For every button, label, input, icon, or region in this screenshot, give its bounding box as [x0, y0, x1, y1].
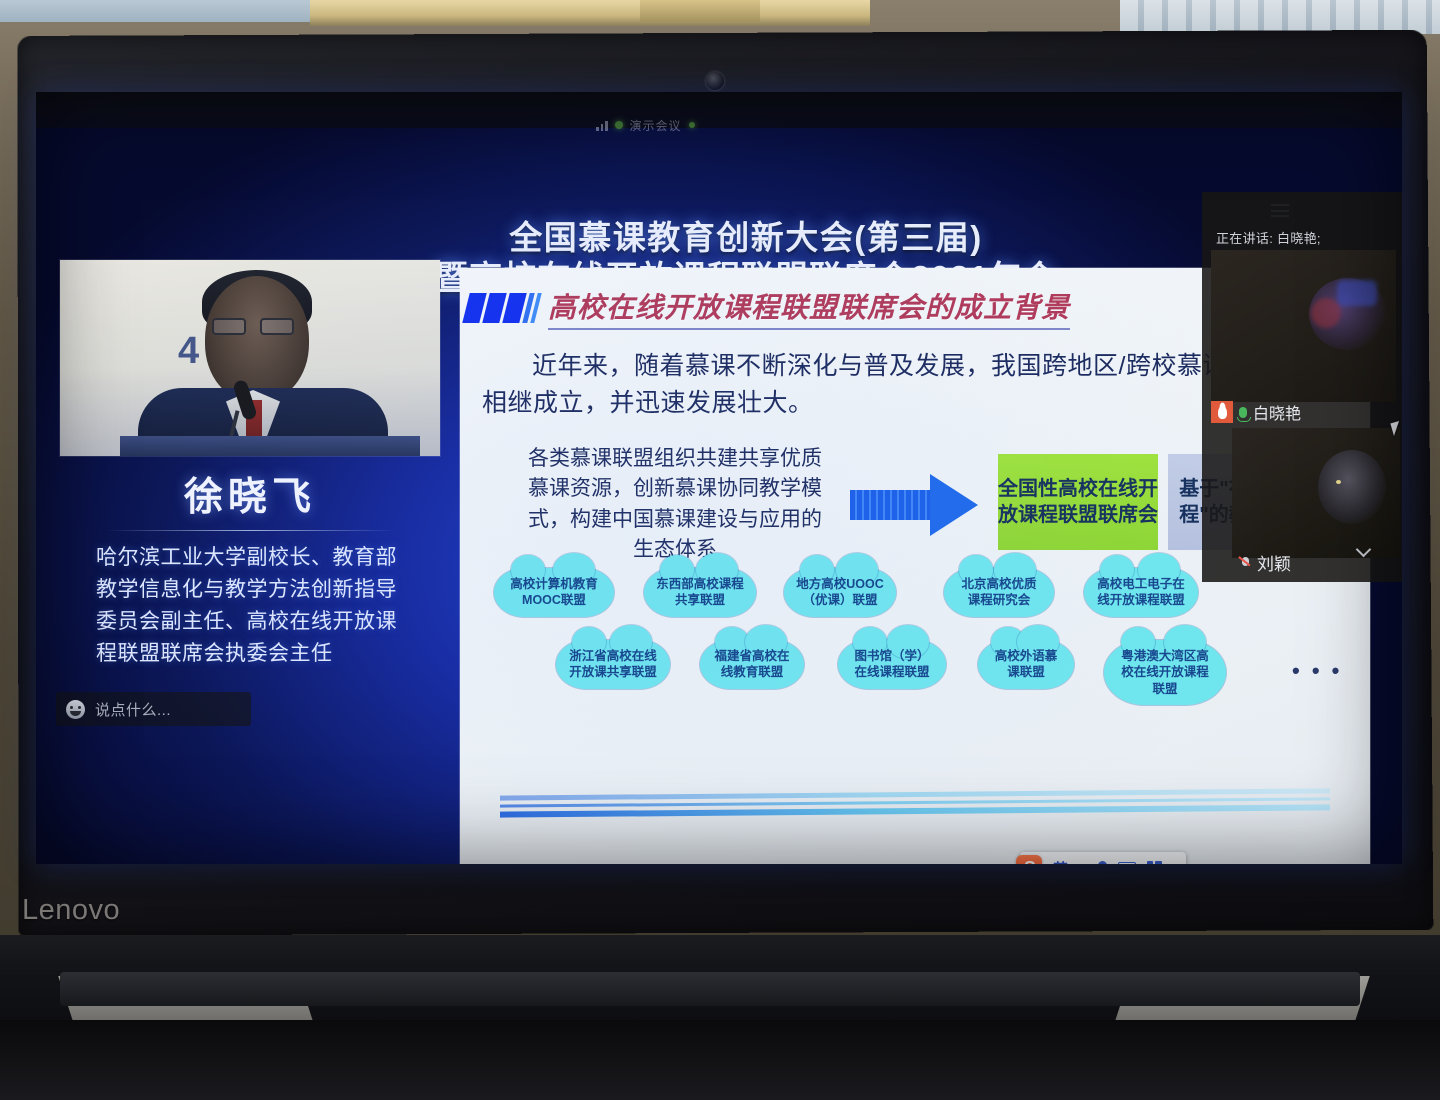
alliance-label: 福建省高校在线教育联盟	[712, 648, 792, 681]
status-dot-icon	[689, 122, 695, 128]
recording-dot-icon	[615, 121, 623, 129]
speaking-now-label: 正在讲话: 白晓艳;	[1216, 228, 1396, 247]
alliance-label: 图书馆（学）在线课程联盟	[850, 648, 934, 681]
podium	[120, 436, 420, 456]
arrow-right-icon	[850, 474, 990, 536]
alliance-label: 高校计算机教育MOOC联盟	[506, 576, 602, 609]
ceiling-light-secondary	[640, 0, 760, 22]
speaker-photo: 4	[60, 260, 440, 456]
video-tile[interactable]	[1211, 250, 1396, 402]
mic-muted-icon[interactable]	[1240, 557, 1251, 569]
video-thumbnail-highlight	[1337, 280, 1377, 306]
alliance-label: 东西部高校课程共享联盟	[656, 576, 744, 609]
apps-grid-icon[interactable]	[1147, 861, 1162, 865]
alliance-cloud: 福建省高校在线教育联盟	[700, 640, 804, 689]
ime-toolbar[interactable]: S 英 ·,	[1020, 852, 1186, 864]
alliance-cloud: 东西部高校课程共享联盟	[644, 568, 756, 617]
microphone-icon[interactable]	[1098, 861, 1107, 864]
video-thumbnail	[1318, 450, 1386, 524]
host-badge-icon	[1211, 401, 1233, 423]
video-tile[interactable]	[1232, 428, 1400, 558]
emoji-icon[interactable]	[66, 700, 85, 719]
participant-row[interactable]: 白晓艳	[1211, 400, 1301, 424]
alliance-label: 地方高校UOOC（优课）联盟	[796, 576, 884, 609]
video-thumbnail-highlight	[1311, 298, 1341, 328]
speaker-glasses	[212, 318, 300, 335]
webcam-icon	[706, 72, 724, 90]
chevron-down-icon[interactable]	[1358, 544, 1372, 552]
ellipsis-indicator: • • •	[1292, 658, 1342, 684]
laptop: Lenovo 演示会议 全国慕课教育创新大会(第三届) 暨高校在线开放课程联盟联…	[0, 20, 1440, 980]
ime-punctuation-icon[interactable]: ·,	[1079, 861, 1087, 865]
heading-bars-icon	[466, 293, 538, 323]
alliance-label: 北京高校优质课程研究会	[956, 576, 1042, 609]
participant-name: 白晓艳	[1253, 400, 1301, 424]
alliance-cloud: 地方高校UOOC（优课）联盟	[784, 568, 896, 617]
alliance-cloud: 高校电工电子在线开放课程联盟	[1084, 568, 1198, 617]
brand-logo: Lenovo	[22, 894, 202, 934]
speaker-head	[205, 276, 309, 402]
alliance-cloud: 高校计算机教育MOOC联盟	[494, 568, 614, 617]
alliance-cloud: 北京高校优质课程研究会	[944, 568, 1054, 617]
ppt-heading: 高校在线开放课程联盟联席会的成立背景	[548, 286, 1070, 330]
box-national-alliance: 全国性高校在线开放课程联盟联席会	[998, 454, 1158, 550]
alliance-cloud: 浙江省高校在线开放课共享联盟	[556, 640, 670, 689]
chat-input-placeholder: 说点什么...	[95, 699, 171, 720]
chat-input[interactable]: 说点什么...	[56, 692, 251, 726]
alliance-cloud-group: 高校计算机教育MOOC联盟 东西部高校课程共享联盟 地方高校UOOC（优课）联盟…	[478, 568, 1358, 728]
participant-row[interactable]: 刘颖	[1240, 550, 1291, 575]
signal-icon	[596, 120, 608, 131]
decorative-lines	[500, 792, 1330, 826]
alliance-label: 粤港澳大湾区高校在线开放课程联盟	[1116, 648, 1214, 697]
wall-left	[0, 0, 310, 22]
meeting-title: 演示会议	[630, 117, 682, 134]
alliance-label: 高校外语慕课联盟	[990, 648, 1062, 681]
alliance-label: 浙江省高校在线开放课共享联盟	[568, 648, 658, 681]
sogou-logo-icon[interactable]: S	[1016, 855, 1042, 864]
alliance-cloud: 高校外语慕课联盟	[978, 640, 1074, 689]
photo-number: 4	[178, 330, 199, 373]
video-thumbnail-highlight	[1336, 480, 1341, 484]
meeting-status-bar: 演示会议	[596, 114, 826, 136]
speaker-bio: 哈尔滨工业大学副校长、教育部教学信息化与教学方法创新指导委员会副主任、高校在线开…	[96, 542, 416, 670]
laptop-hinge	[60, 972, 1360, 1006]
slide-title-line1: 全国慕课教育创新大会(第三届)	[336, 218, 1156, 258]
keyboard-icon[interactable]	[1118, 862, 1136, 864]
alliance-cloud: 粤港澳大湾区高校在线开放课程联盟	[1104, 640, 1226, 705]
laptop-deck-shadow	[0, 1020, 1440, 1100]
divider	[106, 530, 396, 531]
ime-mode-label[interactable]: 英	[1053, 858, 1068, 865]
participant-name: 刘颖	[1257, 550, 1291, 575]
speaker-name: 徐晓飞	[60, 466, 440, 522]
laptop-screen: 演示会议 全国慕课教育创新大会(第三届) 暨高校在线开放课程联盟联席会2021年…	[36, 92, 1402, 864]
ppt-left-text: 各类慕课联盟组织共建共享优质慕课资源，创新慕课协同教学模式，构建中国慕课建设与应…	[520, 444, 830, 566]
mic-on-icon[interactable]	[1239, 407, 1247, 418]
speaker-card: 4 徐晓飞 哈尔滨工业大学副校长、教育部教学信息化与教学方法创新指导委员会副主任…	[60, 260, 440, 760]
alliance-cloud: 图书馆（学）在线课程联盟	[838, 640, 946, 689]
alliance-label: 高校电工电子在线开放课程联盟	[1096, 576, 1186, 609]
